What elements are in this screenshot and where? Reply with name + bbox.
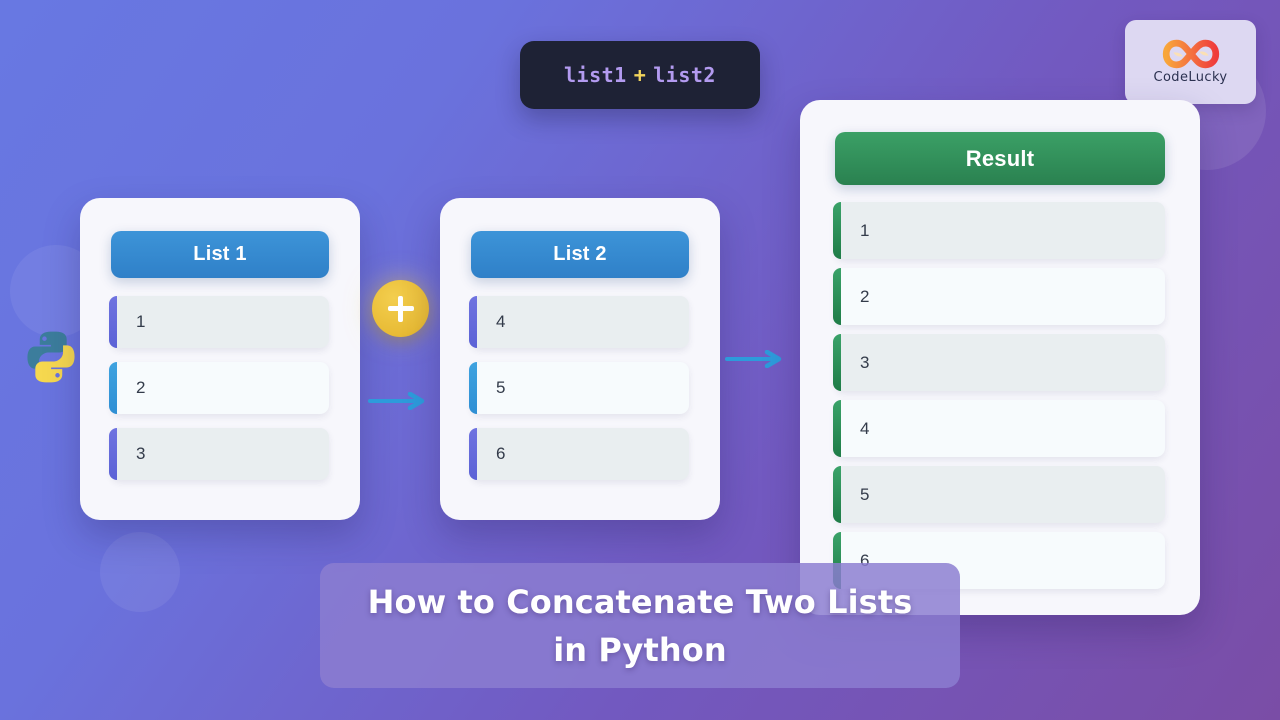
code-operand-right: list2 bbox=[653, 63, 716, 87]
result-header: Result bbox=[835, 132, 1165, 185]
title-banner: How to Concatenate Two Lists in Python bbox=[320, 563, 960, 688]
list1-card: List 1 1 2 3 bbox=[80, 198, 360, 520]
decorative-circle-bottom-left bbox=[100, 532, 180, 612]
arrow-right-icon bbox=[368, 392, 430, 410]
arrow-right-icon bbox=[725, 350, 787, 368]
code-operand-left: list1 bbox=[564, 63, 627, 87]
code-operator: + bbox=[634, 63, 647, 87]
list-item: 2 bbox=[835, 268, 1165, 325]
page-title: How to Concatenate Two Lists in Python bbox=[348, 578, 932, 674]
list-item: 4 bbox=[835, 400, 1165, 457]
infinity-icon bbox=[1160, 39, 1222, 69]
list-item: 1 bbox=[835, 202, 1165, 259]
list-item: 3 bbox=[835, 334, 1165, 391]
brand-logo-card[interactable]: CodeLucky bbox=[1125, 20, 1256, 104]
list1-header: List 1 bbox=[111, 231, 329, 278]
list-item: 4 bbox=[471, 296, 689, 348]
python-logo-icon bbox=[22, 328, 80, 386]
list-item: 5 bbox=[835, 466, 1165, 523]
list-item: 3 bbox=[111, 428, 329, 480]
plus-icon bbox=[372, 280, 429, 337]
list2-header: List 2 bbox=[471, 231, 689, 278]
list-item: 1 bbox=[111, 296, 329, 348]
code-snippet-chip: list1 + list2 bbox=[520, 41, 760, 109]
list-item: 6 bbox=[471, 428, 689, 480]
list-item: 2 bbox=[111, 362, 329, 414]
result-card: Result 1 2 3 4 5 6 bbox=[800, 100, 1200, 615]
plus-vertical-bar bbox=[398, 296, 403, 322]
brand-name: CodeLucky bbox=[1153, 70, 1227, 85]
result-items: 1 2 3 4 5 6 bbox=[835, 202, 1165, 598]
list2-items: 4 5 6 bbox=[471, 296, 689, 494]
list2-card: List 2 4 5 6 bbox=[440, 198, 720, 520]
infographic-canvas: list1 + list2 CodeLucky List 1 bbox=[0, 0, 1280, 720]
list1-items: 1 2 3 bbox=[111, 296, 329, 494]
list-item: 5 bbox=[471, 362, 689, 414]
